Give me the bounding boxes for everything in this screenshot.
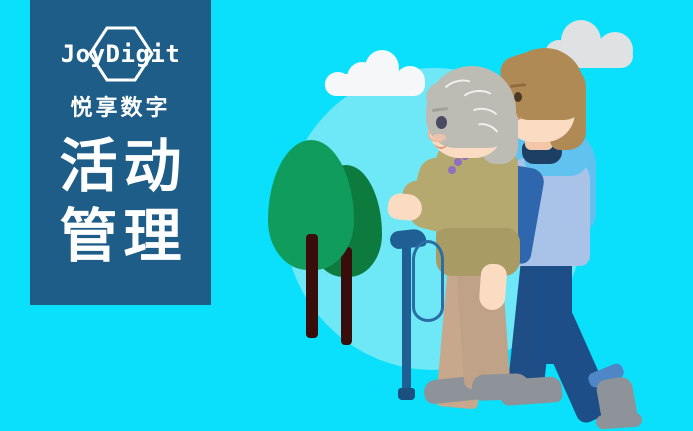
page-title: 活动 管理 xyxy=(30,132,211,272)
woman-front-shoe xyxy=(472,373,531,401)
cane-tip xyxy=(398,388,415,400)
woman-free-hand xyxy=(478,263,507,311)
logo-wordmark: JoyDigit xyxy=(46,40,196,68)
woman-sweater-button xyxy=(448,166,456,174)
woman-sweater-button xyxy=(454,158,462,166)
logo-mark: JoyDigit xyxy=(46,26,196,82)
cane-strap xyxy=(412,240,444,322)
woman-eye xyxy=(436,116,447,129)
tree-icon-front xyxy=(268,140,354,338)
brand-logo: JoyDigit 悦享数字 xyxy=(30,26,211,122)
title-line-2: 管理 xyxy=(30,202,211,272)
woman-sweater-hem xyxy=(436,228,520,276)
title-panel: JoyDigit 悦享数字 活动 管理 xyxy=(30,0,211,305)
walking-cane-icon xyxy=(388,228,448,403)
cane-shaft xyxy=(402,242,411,394)
title-line-1: 活动 xyxy=(30,132,211,202)
logo-chinese-name: 悦享数字 xyxy=(30,90,211,122)
man-front-shoe-sole xyxy=(596,412,643,429)
woman-cheek xyxy=(432,134,446,141)
poster-canvas: JoyDigit 悦享数字 活动 管理 xyxy=(0,0,693,431)
tree-trunk xyxy=(306,234,318,338)
cloud-lobe xyxy=(365,50,399,86)
